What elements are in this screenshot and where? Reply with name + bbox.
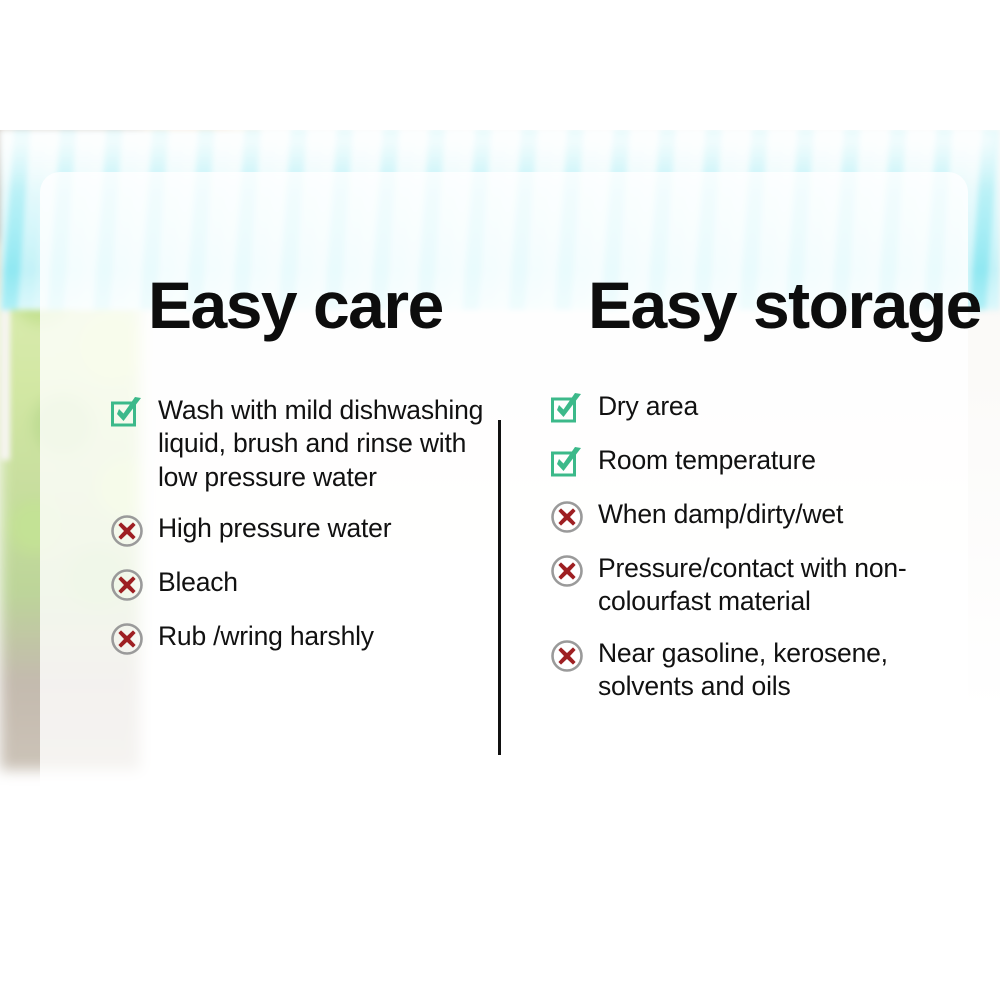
list-item-label: Room temperature (598, 444, 816, 477)
page-title-easy-care: Easy care (148, 272, 443, 338)
care-columns: Easy care Wash with mild dishwashing liq… (40, 172, 968, 844)
list-item: Near gasoline, kerosene, solvents and oi… (550, 637, 970, 704)
list-item: High pressure water (110, 512, 510, 548)
list-item: Pressure/contact with non-colourfast mat… (550, 552, 970, 619)
list-item: When damp/dirty/wet (550, 498, 970, 534)
green-check-icon (110, 396, 144, 430)
list-item-label: Bleach (158, 566, 238, 599)
list-item-label: Rub /wring harshly (158, 620, 374, 653)
care-instructions-card: Easy care Wash with mild dishwashing liq… (40, 172, 968, 844)
infographic-stage: Easy care Wash with mild dishwashing liq… (0, 0, 1000, 1000)
list-item-label: Dry area (598, 390, 698, 423)
red-cross-icon (550, 554, 584, 588)
list-item: Rub /wring harshly (110, 620, 510, 656)
column-divider (498, 420, 501, 755)
list-item: Wash with mild dishwashing liquid, brush… (110, 394, 510, 494)
page-title-easy-storage: Easy storage (588, 272, 981, 338)
red-cross-icon (550, 639, 584, 673)
list-item: Bleach (110, 566, 510, 602)
red-cross-icon (110, 622, 144, 656)
easy-storage-list: Dry area Room temperature (550, 390, 970, 722)
list-item-label: Pressure/contact with non-colourfast mat… (598, 552, 970, 619)
green-check-icon (550, 446, 584, 480)
easy-care-list: Wash with mild dishwashing liquid, brush… (110, 394, 510, 674)
red-cross-icon (110, 514, 144, 548)
red-cross-icon (550, 500, 584, 534)
list-item-label: Wash with mild dishwashing liquid, brush… (158, 394, 510, 494)
list-item-label: When damp/dirty/wet (598, 498, 843, 531)
list-item-label: Near gasoline, kerosene, solvents and oi… (598, 637, 970, 704)
list-item-label: High pressure water (158, 512, 391, 545)
green-check-icon (550, 392, 584, 426)
list-item: Room temperature (550, 444, 970, 480)
red-cross-icon (110, 568, 144, 602)
list-item: Dry area (550, 390, 970, 426)
